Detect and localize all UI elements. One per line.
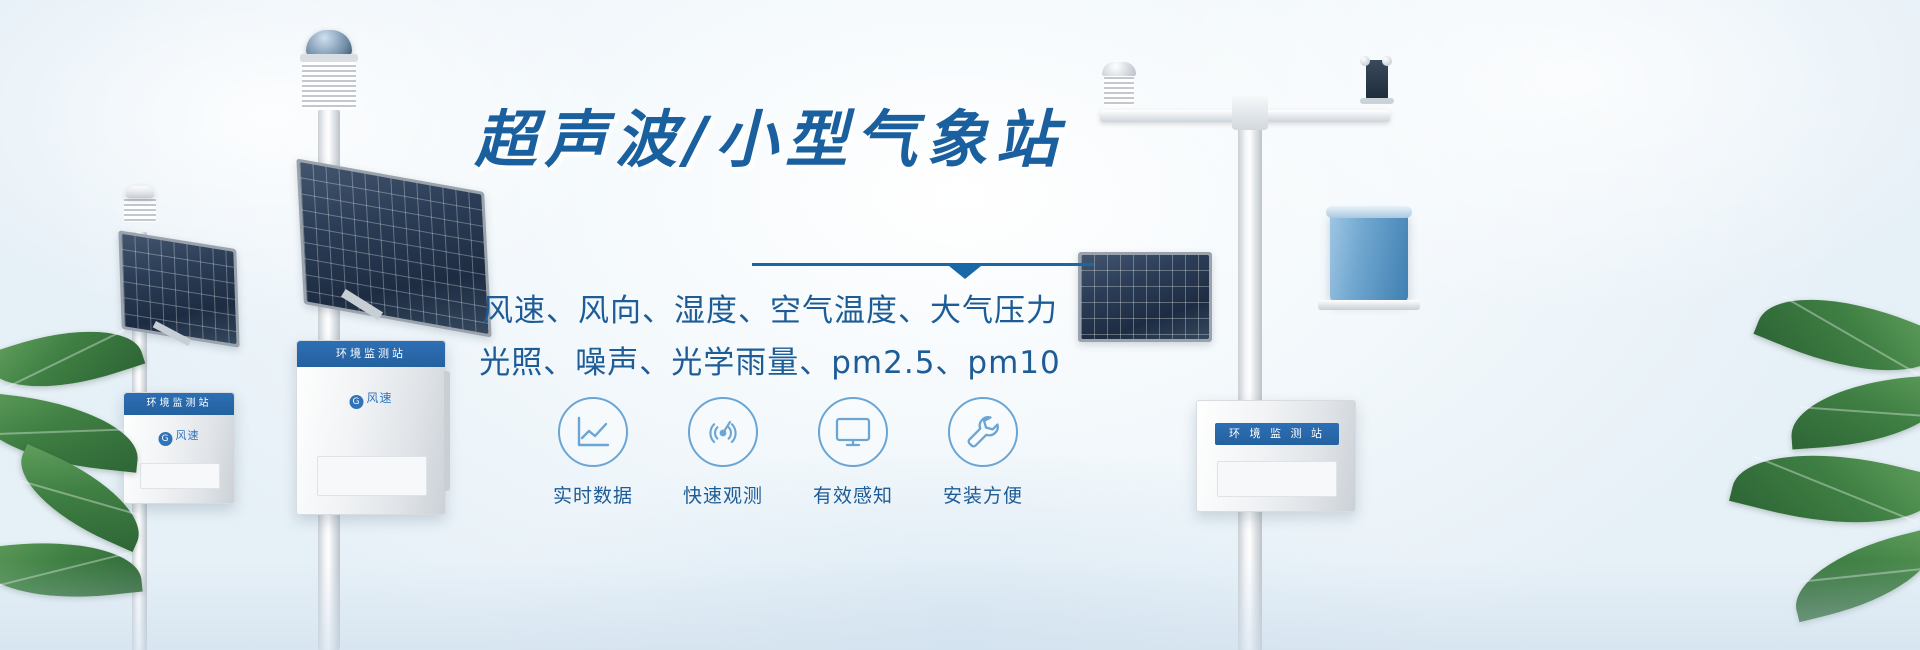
anemometer-cup-right [1382,56,1392,66]
brand-mark-icon: G [159,432,173,446]
rain-gauge-rim [1326,206,1412,218]
left-cabinet-label: 环境监测站 [124,393,234,415]
divider-triangle-icon [949,266,981,279]
feature-item-easy-installation[interactable]: 安装方便 [928,397,1038,508]
center-radiation-shield [302,62,356,110]
left-cabinet-vent [140,463,220,489]
rain-gauge [1330,212,1408,302]
center-cabinet-label: 环境监测站 [297,341,445,367]
right-solar-cells [1081,255,1209,339]
feature-list: 实时数据 快速观测 [538,397,1038,508]
anemometer-cup-left [1360,56,1370,66]
ground-shadow [0,560,1920,650]
right-ultrasonic-head [1102,62,1136,76]
wrench-icon [948,397,1018,467]
line-chart-icon [558,397,628,467]
left-station-sensor-head [126,186,154,198]
center-cabinet-brand: G风速 [349,389,392,409]
brand-mark-icon: G [349,395,363,409]
wind-vane-base [1360,98,1394,104]
left-solar-cells [121,234,236,344]
feature-label: 实时数据 [538,481,648,508]
banner-content: 超声波/小型气象站 风速、风向、湿度、空气温度、大气压力 光照、噪声、光学雨量、… [440,105,1100,485]
left-solar-panel [118,230,239,347]
right-cabinet-vent [1217,461,1337,497]
crossarm-clamp [1232,96,1268,130]
subtitle-line-1: 风速、风向、湿度、空气温度、大气压力 [440,285,1100,330]
left-station-sensor-fins [124,196,156,222]
wind-vane-body [1366,60,1388,100]
left-brand-text: 风速 [176,429,200,442]
feature-label: 有效感知 [798,481,908,508]
feature-label: 安装方便 [928,481,1038,508]
left-cabinet-brand: G风速 [159,427,200,446]
left-cabinet: 环境监测站 G风速 [123,392,235,504]
right-radiation-shield [1104,74,1134,106]
right-cabinet: 环 境 监 测 站 [1196,400,1356,512]
weather-station-banner: 环境监测站 G风速 环境监测站 G风速 [0,0,1920,650]
title-divider [752,263,1094,279]
center-cabinet: 环境监测站 G风速 [296,340,446,515]
rain-gauge-shelf [1318,300,1420,310]
feature-item-effective-sensing[interactable]: 有效感知 [798,397,908,508]
subtitle-line-2: 光照、噪声、光学雨量、pm2.5、pm10 [440,337,1100,382]
divider-rule [752,263,1094,266]
feature-item-realtime-data[interactable]: 实时数据 [538,397,648,508]
sensor-collar [300,54,358,62]
center-cabinet-vent [317,456,427,496]
center-brand-text: 风速 [366,391,392,405]
radar-signal-icon [688,397,758,467]
right-cabinet-label: 环 境 监 测 站 [1215,423,1339,445]
feature-label: 快速观测 [668,481,778,508]
page-title: 超声波/小型气象站 [440,105,1100,174]
feature-item-fast-observation[interactable]: 快速观测 [668,397,778,508]
monitor-screen-icon [818,397,888,467]
